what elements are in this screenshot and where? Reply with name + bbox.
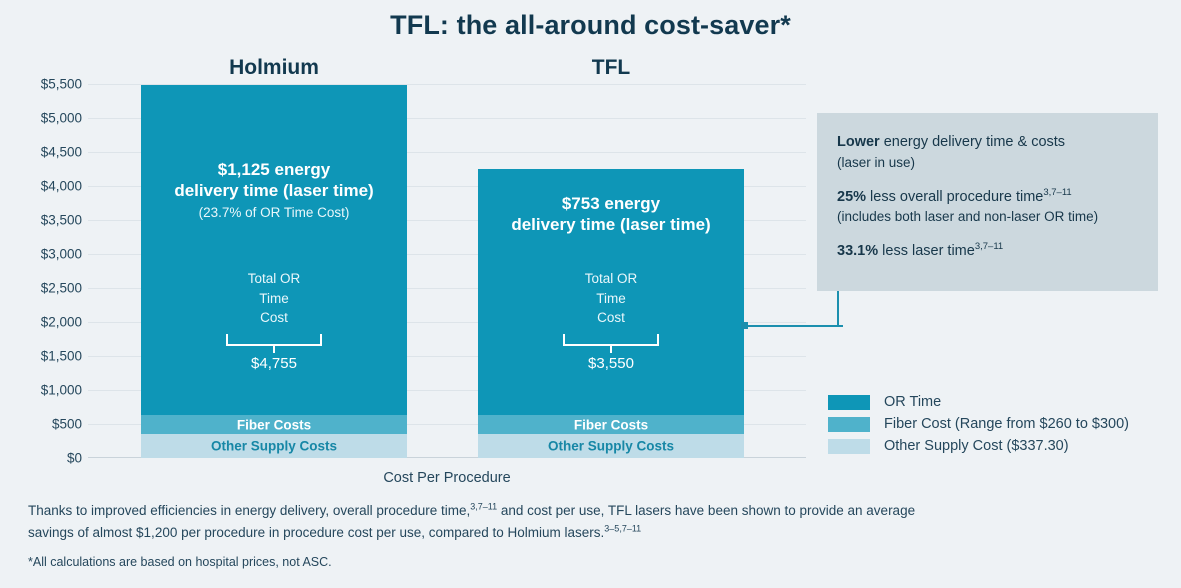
- legend-item-other-supply-cost[interactable]: Other Supply Cost ($337.30): [828, 438, 1129, 454]
- page-title: TFL: the all-around cost-saver*: [0, 10, 1181, 41]
- callout-line-1-sub: (laser in use): [837, 153, 1138, 172]
- callout-connector-line: [735, 291, 845, 336]
- column-header-tfl: TFL: [478, 56, 744, 80]
- energy-cost-line1: $1,125 energy: [141, 159, 407, 180]
- y-tick: $2,000: [41, 315, 82, 330]
- energy-cost-line1: $753 energy: [478, 193, 744, 214]
- callout-box: Lower energy delivery time & costs (lase…: [817, 113, 1158, 291]
- footnote-asterisk: *All calculations are based on hospital …: [28, 552, 928, 572]
- footnote-body-part-a: Thanks to improved efficiencies in energ…: [28, 503, 470, 518]
- legend-swatch-icon: [828, 395, 870, 410]
- footnote-citation-a: 3,7–11: [470, 502, 497, 512]
- callout-line-2-strong: 25%: [837, 189, 866, 205]
- fiber-cost-label: Fiber Costs: [478, 417, 744, 432]
- bar-segment-other-supply[interactable]: Other Supply Costs: [478, 434, 744, 458]
- callout-line-3-citation: 3,7–11: [975, 242, 1003, 253]
- total-or-bracket: [563, 334, 659, 346]
- callout-line-2-sub: (includes both laser and non-laser OR ti…: [837, 207, 1138, 226]
- y-tick: $2,500: [41, 281, 82, 296]
- footnote-citation-b: 3–5,7–11: [604, 523, 641, 533]
- callout-line-1: Lower energy delivery time & costs: [837, 132, 1138, 153]
- energy-cost-line2: delivery time (laser time): [141, 180, 407, 201]
- y-tick: $3,500: [41, 213, 82, 228]
- total-or-label-l3: Cost: [478, 308, 744, 328]
- footnote-body: Thanks to improved efficiencies in energ…: [28, 500, 928, 544]
- chart-root: TFL: the all-around cost-saver* Holmium …: [0, 0, 1181, 588]
- y-tick: $5,000: [41, 111, 82, 126]
- total-or-value: $3,550: [478, 355, 744, 372]
- callout-line-3-rest: less laser time: [878, 243, 975, 259]
- callout-line-3-strong: 33.1%: [837, 243, 878, 259]
- chart-legend: OR Time Fiber Cost (Range from $260 to $…: [828, 394, 1129, 460]
- bar-segment-fiber-cost[interactable]: Fiber Costs: [141, 415, 407, 434]
- total-or-label-l1: Total OR: [478, 269, 744, 289]
- legend-label: OR Time: [884, 394, 941, 410]
- plot-area: $1,125 energy delivery time (laser time)…: [88, 84, 806, 458]
- legend-label: Fiber Cost (Range from $260 to $300): [884, 416, 1129, 432]
- column-header-holmium: Holmium: [141, 56, 407, 80]
- legend-swatch-icon: [828, 417, 870, 432]
- callout-line-2-citation: 3,7–11: [1043, 187, 1071, 198]
- legend-item-or-time[interactable]: OR Time: [828, 394, 1129, 410]
- callout-line-1-rest: energy delivery time & costs: [880, 134, 1065, 150]
- y-tick: $0: [67, 451, 82, 466]
- bar-segment-other-supply[interactable]: Other Supply Costs: [141, 434, 407, 458]
- other-supply-label: Other Supply Costs: [478, 439, 744, 454]
- bar-segment-or-time[interactable]: $1,125 energy delivery time (laser time)…: [141, 85, 407, 415]
- legend-item-fiber-cost[interactable]: Fiber Cost (Range from $260 to $300): [828, 416, 1129, 432]
- total-or-label-l1: Total OR: [141, 269, 407, 289]
- callout-line-3: 33.1% less laser time3,7–11: [837, 241, 1138, 262]
- y-tick: $5,500: [41, 77, 82, 92]
- y-tick: $1,500: [41, 349, 82, 364]
- callout-line-2: 25% less overall procedure time3,7–11: [837, 187, 1138, 208]
- bar-segment-or-time[interactable]: $753 energy delivery time (laser time) T…: [478, 169, 744, 415]
- energy-cost-subtext: (23.7% of OR Time Cost): [141, 205, 407, 220]
- y-tick: $1,000: [41, 383, 82, 398]
- bar-segment-fiber-cost[interactable]: Fiber Costs: [478, 415, 744, 434]
- y-tick: $4,000: [41, 179, 82, 194]
- fiber-cost-label: Fiber Costs: [141, 417, 407, 432]
- total-or-label-l2: Time: [478, 289, 744, 309]
- legend-label: Other Supply Cost ($337.30): [884, 438, 1069, 454]
- total-or-value: $4,755: [141, 355, 407, 372]
- y-tick: $500: [52, 417, 82, 432]
- total-or-label-l2: Time: [141, 289, 407, 309]
- total-or-bracket: [226, 334, 322, 346]
- y-tick: $4,500: [41, 145, 82, 160]
- total-or-label-l3: Cost: [141, 308, 407, 328]
- energy-cost-line2: delivery time (laser time): [478, 214, 744, 235]
- other-supply-label: Other Supply Costs: [141, 439, 407, 454]
- x-axis-label: Cost Per Procedure: [88, 470, 806, 486]
- legend-swatch-icon: [828, 439, 870, 454]
- callout-line-2-rest: less overall procedure time: [866, 189, 1043, 205]
- callout-line-1-strong: Lower: [837, 134, 880, 150]
- y-tick: $3,000: [41, 247, 82, 262]
